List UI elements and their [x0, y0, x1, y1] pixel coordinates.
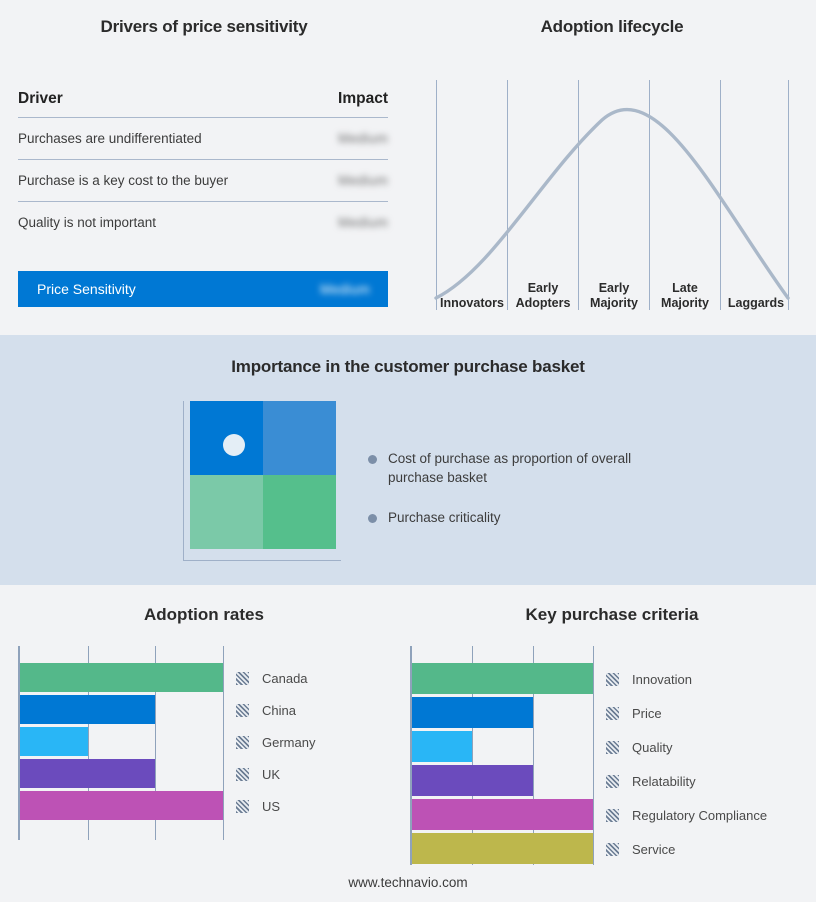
hatch-swatch-icon: [606, 843, 619, 856]
legend-label: Purchase criticality: [388, 508, 501, 527]
matrix-x-axis: [183, 560, 341, 561]
adoption-bell-curve: [432, 80, 792, 310]
legend-item: Price: [606, 706, 662, 721]
driver-label: Purchase is a key cost to the buyer: [18, 173, 228, 188]
table-row: Purchases are undifferentiated Medium: [18, 118, 388, 160]
adoption-lifecycle-panel: Adoption lifecycle Innovators Early Adop…: [408, 0, 816, 335]
column-header-impact: Impact: [338, 90, 388, 108]
legend-item: UK: [236, 767, 280, 782]
bar-canada: [20, 663, 223, 692]
key-purchase-criteria-title: Key purchase criteria: [408, 605, 816, 625]
legend-item: Germany: [236, 735, 315, 750]
hatch-swatch-icon: [606, 809, 619, 822]
legend-item: Regulatory Compliance: [606, 808, 767, 823]
importance-panel: Importance in the customer purchase bask…: [0, 335, 816, 585]
hatch-swatch-icon: [606, 741, 619, 754]
hatch-swatch-icon: [236, 704, 249, 717]
legend-label: China: [262, 703, 296, 718]
legend-label: Relatability: [632, 774, 696, 789]
purchase-basket-matrix: [183, 401, 343, 566]
key-purchase-criteria-legend: InnovationPriceQualityRelatabilityRegula…: [606, 646, 806, 865]
position-marker-dot: [223, 434, 245, 456]
chart-gridline: [223, 646, 224, 840]
hatch-swatch-icon: [606, 707, 619, 720]
adoption-rates-chart: [18, 646, 223, 840]
bottom-section: Adoption rates CanadaChinaGermanyUKUS Ke…: [0, 585, 816, 902]
legend-item: Purchase criticality: [368, 508, 668, 527]
bar-service: [412, 833, 593, 864]
legend-item: China: [236, 703, 296, 718]
importance-legend: Cost of purchase as proportion of overal…: [368, 449, 668, 548]
bar-quality: [412, 731, 472, 762]
legend-label: UK: [262, 767, 280, 782]
legend-item: Quality: [606, 740, 672, 755]
price-sensitivity-highlight-row: Price Sensitivity Medium: [18, 271, 388, 307]
key-purchase-criteria-chart: [410, 646, 593, 865]
highlight-driver-label: Price Sensitivity: [37, 281, 136, 297]
drivers-panel: Drivers of price sensitivity Driver Impa…: [0, 0, 408, 335]
impact-value: Medium: [338, 131, 388, 146]
importance-title: Importance in the customer purchase bask…: [0, 357, 816, 377]
legend-label: Regulatory Compliance: [632, 808, 767, 823]
matrix-quadrant-bottom-right: [263, 475, 336, 549]
bar-price: [412, 697, 533, 728]
drivers-table: Driver Impact Purchases are undifferenti…: [18, 90, 388, 243]
bar-germany: [20, 727, 88, 756]
highlight-impact-value: Medium: [320, 282, 370, 297]
chart-gridline: [593, 646, 594, 865]
adoption-rates-legend: CanadaChinaGermanyUKUS: [236, 646, 396, 840]
bar-relatability: [412, 765, 533, 796]
bar-china: [20, 695, 155, 724]
table-row: Quality is not important Medium: [18, 202, 388, 243]
lifecycle-stage-label: Laggards: [720, 296, 792, 311]
legend-label: Cost of purchase as proportion of overal…: [388, 449, 668, 487]
legend-label: Quality: [632, 740, 672, 755]
drivers-table-header: Driver Impact: [18, 90, 388, 118]
hatch-swatch-icon: [236, 672, 249, 685]
impact-value: Medium: [338, 173, 388, 188]
legend-item: Service: [606, 842, 675, 857]
hatch-swatch-icon: [606, 673, 619, 686]
driver-label: Quality is not important: [18, 215, 156, 230]
column-header-driver: Driver: [18, 90, 63, 108]
legend-label: Price: [632, 706, 662, 721]
legend-item: Canada: [236, 671, 308, 686]
impact-value: Medium: [338, 215, 388, 230]
legend-label: Innovation: [632, 672, 692, 687]
lifecycle-stage-label: Innovators: [436, 296, 508, 311]
lifecycle-stage-label: Early Adopters: [507, 281, 579, 310]
driver-label: Purchases are undifferentiated: [18, 131, 202, 146]
legend-item: Cost of purchase as proportion of overal…: [368, 449, 668, 487]
legend-item: US: [236, 799, 280, 814]
adoption-lifecycle-chart: Innovators Early Adopters Early Majority…: [432, 80, 792, 310]
hatch-swatch-icon: [236, 768, 249, 781]
bar-us: [20, 791, 223, 820]
top-section: Drivers of price sensitivity Driver Impa…: [0, 0, 816, 335]
hatch-swatch-icon: [236, 800, 249, 813]
bar-regulatory-compliance: [412, 799, 593, 830]
bar-innovation: [412, 663, 593, 694]
bar-uk: [20, 759, 155, 788]
drivers-title: Drivers of price sensitivity: [0, 17, 408, 37]
legend-item: Relatability: [606, 774, 696, 789]
hatch-swatch-icon: [236, 736, 249, 749]
adoption-lifecycle-title: Adoption lifecycle: [408, 17, 816, 37]
legend-label: Canada: [262, 671, 308, 686]
bullet-icon: [368, 455, 377, 464]
legend-label: Germany: [262, 735, 315, 750]
table-row: Purchase is a key cost to the buyer Medi…: [18, 160, 388, 202]
lifecycle-stage-label: Late Majority: [649, 281, 721, 310]
matrix-quadrants: [190, 401, 336, 549]
legend-item: Innovation: [606, 672, 692, 687]
matrix-y-axis: [183, 401, 184, 561]
matrix-quadrant-top-right: [263, 401, 336, 475]
lifecycle-stage-label: Early Majority: [578, 281, 650, 310]
adoption-rates-title: Adoption rates: [0, 605, 408, 625]
hatch-swatch-icon: [606, 775, 619, 788]
footer-url: www.technavio.com: [0, 875, 816, 890]
legend-label: Service: [632, 842, 675, 857]
legend-label: US: [262, 799, 280, 814]
matrix-quadrant-bottom-left: [190, 475, 263, 549]
bullet-icon: [368, 514, 377, 523]
